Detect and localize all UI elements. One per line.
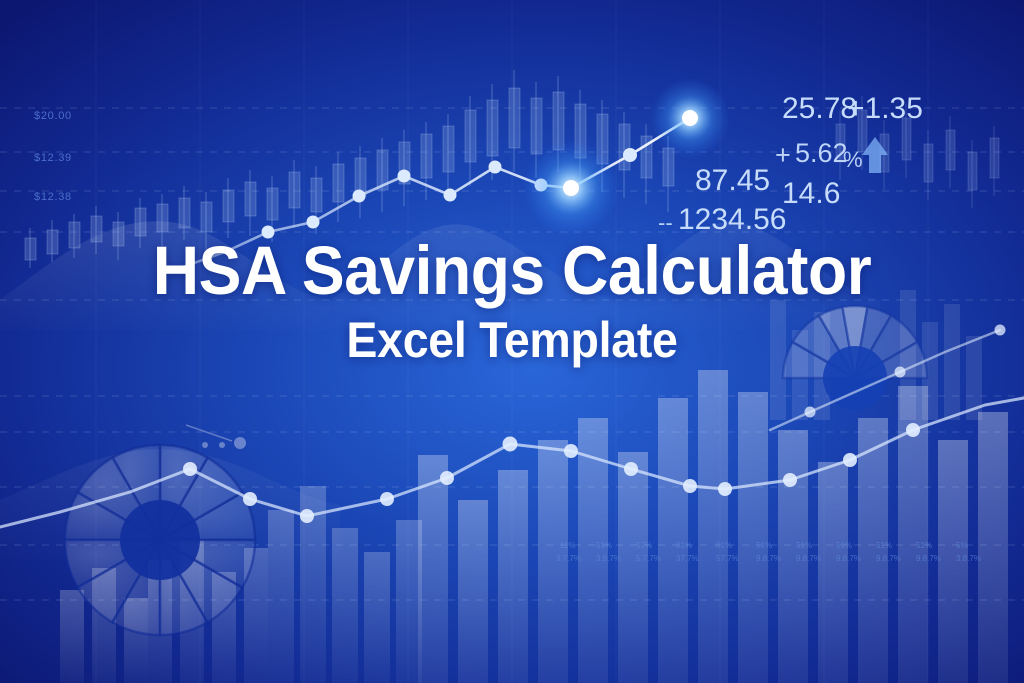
left-donut-chart <box>65 445 255 635</box>
promo-banner: $20.00 $12.39 $12.38 25.78 +1.35 + 5.62 … <box>0 0 1024 683</box>
background-artwork <box>0 0 1024 683</box>
